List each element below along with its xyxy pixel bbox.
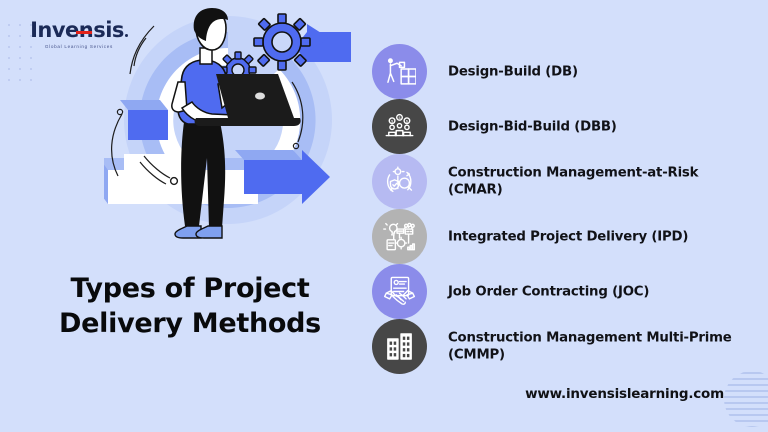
grid-dot xyxy=(19,24,21,26)
grid-dot xyxy=(19,68,21,70)
website-url[interactable]: www.invensislearning.com xyxy=(525,386,724,402)
list-item-label: Construction Management-at-Risk (CMAR) xyxy=(448,164,748,199)
list-item-label: Construction Management Multi-Prime (CMM… xyxy=(448,329,748,364)
list-item[interactable]: Design-Build (DB) xyxy=(372,44,756,99)
grid-dot xyxy=(30,68,32,70)
list-item[interactable]: Integrated Project Delivery (IPD) xyxy=(372,209,756,264)
grid-dot xyxy=(8,35,10,37)
grid-dot xyxy=(30,79,32,81)
grid-dot xyxy=(8,24,10,26)
grid-dot xyxy=(19,57,21,59)
grid-dot xyxy=(8,68,10,70)
list-item[interactable]: Construction Management-at-Risk (CMAR) xyxy=(372,154,756,209)
lightbulb-workflow-icon xyxy=(372,209,427,264)
grid-dot xyxy=(8,46,10,48)
page-title-line-2: Delivery Methods xyxy=(14,307,366,342)
list-item-label: Design-Bid-Build (DBB) xyxy=(448,118,748,135)
grid-dot xyxy=(19,79,21,81)
striped-circle-decoration xyxy=(712,370,768,428)
grid-dot xyxy=(30,57,32,59)
list-item[interactable]: $ $ $ Design-Bid-Build (DBB) xyxy=(372,99,756,154)
list-item-label: Job Order Contracting (JOC) xyxy=(448,283,748,300)
grid-dot xyxy=(19,35,21,37)
person-with-laptop-and-gears-illustration xyxy=(104,4,364,266)
list-item-label: Design-Build (DB) xyxy=(448,63,748,80)
list-item[interactable]: Construction Management Multi-Prime (CMM… xyxy=(372,319,756,374)
list-item-label: Integrated Project Delivery (IPD) xyxy=(448,228,748,245)
contract-handshake-icon xyxy=(372,264,427,319)
page-title: Types of Project Delivery Methods xyxy=(14,272,366,341)
page-title-line-1: Types of Project xyxy=(14,272,366,307)
list-item[interactable]: Job Order Contracting (JOC) xyxy=(372,264,756,319)
grid-dot xyxy=(8,57,10,59)
buildings-icon xyxy=(372,319,427,374)
risk-magnifier-icon xyxy=(372,154,427,209)
delivery-methods-list: Design-Build (DB) $ $ $ Design-Bid-Build… xyxy=(372,44,756,374)
grid-dot xyxy=(19,46,21,48)
person-puzzle-icon xyxy=(372,44,427,99)
logo-red-bar xyxy=(76,31,92,34)
grid-dot xyxy=(8,79,10,81)
bidders-with-money-icon: $ $ $ xyxy=(372,99,427,154)
